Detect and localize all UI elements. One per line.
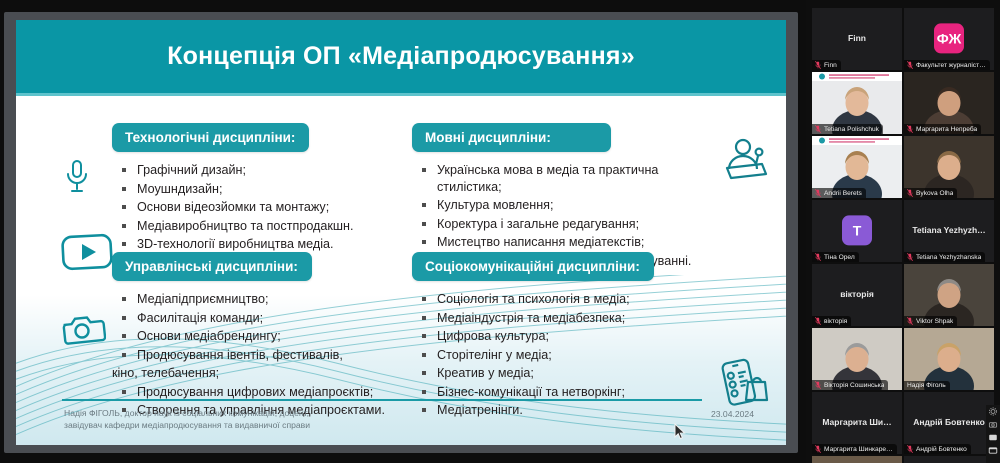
participant-tile[interactable]: FinnFinn <box>812 8 902 70</box>
participant-tile[interactable]: Viktor Shpak <box>904 264 994 326</box>
participant-namebar: Bykova Olha <box>904 188 957 198</box>
slide-title-bar: Концепція ОП «Медіапродюсування» <box>16 20 786 93</box>
title-underline <box>16 93 786 96</box>
participant-name-large: Маргарита Ши… <box>812 417 902 427</box>
participant-tile[interactable]: Tetiana Polishchuk <box>812 72 902 134</box>
list-item: Цифрова культура; <box>412 328 722 345</box>
muted-microphone-icon <box>815 253 821 261</box>
participant-tile[interactable]: Андрій БовтенкоАндрій Бовтенко <box>904 392 994 454</box>
participant-namebar: Viktor Shpak <box>904 316 957 326</box>
participant-name: Tetiana Polishchuk <box>824 126 879 133</box>
participant-name: Надія Фіголь <box>907 382 946 389</box>
participant-name: Finn <box>824 62 837 69</box>
participant-namebar: Андрій Бовтенко <box>904 444 971 454</box>
participant-name: Viktor Shpak <box>916 318 953 325</box>
column-sociokomunikatsiini: Соціокомунікаційні дисципліни: Соціологі… <box>412 252 722 421</box>
presentation-slide[interactable]: Концепція ОП «Медіапродюсування» <box>16 20 786 445</box>
participant-name: Вікторія Сошинська <box>824 382 884 389</box>
participant-name-large: Tetiana Yezhyzh… <box>904 225 994 235</box>
participant-name: Bykova Olha <box>916 190 953 197</box>
participant-namebar: вікторія <box>812 316 851 326</box>
muted-microphone-icon <box>815 61 821 69</box>
list-item-cont: кіно, телебачення; <box>112 365 412 382</box>
muted-microphone-icon <box>815 381 821 389</box>
list-item: Медіапідприємництво; <box>112 291 412 308</box>
participant-name: вікторія <box>824 318 847 325</box>
participant-tile[interactable]: Tetiana Yezhyzh…Tetiana Yezhyzhanska <box>904 200 994 262</box>
participant-tile[interactable]: Bykova Olha <box>904 136 994 198</box>
participant-tile[interactable]: Вступні випроб…Вступні випробуванн… <box>904 456 994 463</box>
muted-microphone-icon <box>907 125 913 133</box>
participant-name-large: Андрій Бовтенко <box>904 417 994 427</box>
camera-icon <box>60 310 106 351</box>
category-heading: Мовні дисципліни: <box>412 123 611 152</box>
muted-microphone-icon <box>815 445 821 453</box>
participant-name: Тіна Орел <box>824 254 855 261</box>
category-heading: Управлінські дисципліни: <box>112 252 312 281</box>
footer-divider <box>62 399 702 401</box>
category-heading: Технологічні дисципліни: <box>112 123 309 152</box>
participant-namebar: Тіна Орел <box>812 252 859 262</box>
list-item: Основи медіабрендингу; <box>112 328 412 345</box>
slide-title: Концепція ОП «Медіапродюсування» <box>167 42 635 71</box>
video-play-icon <box>60 232 114 277</box>
list-item: Мистецтво написання медіатекстів; <box>412 234 722 251</box>
participant-tile[interactable]: Anastasiia Polishchuk <box>812 456 902 463</box>
participant-tile[interactable]: Маргарита Ши…Маргарита Шинкаре… <box>812 392 902 454</box>
category-heading: Соціокомунікаційні дисципліни: <box>412 252 654 281</box>
participant-tile[interactable]: вікторіявікторія <box>812 264 902 326</box>
participant-name: Tetiana Yezhyzhanska <box>916 254 981 261</box>
participant-namebar: Вікторія Сошинська <box>812 380 888 390</box>
participant-grid: FinnFinnФЖФакультет журналіст…Tetiana Po… <box>812 8 994 463</box>
participant-namebar: Tetiana Polishchuk <box>812 124 883 134</box>
list-item: Культура мовлення; <box>412 197 722 214</box>
footer-date: 23.04.2024 <box>711 409 754 419</box>
course-list: Графічний дизайн; Моушндизайн; Основи ві… <box>112 162 412 253</box>
muted-microphone-icon <box>907 189 913 197</box>
participant-name: Факультет журналіст… <box>916 62 986 69</box>
mouse-cursor <box>674 423 686 440</box>
window-icon[interactable] <box>988 446 998 455</box>
list-item: Моушндизайн; <box>112 181 412 198</box>
participant-name: Маргарита Непреба <box>916 126 977 133</box>
list-item: Українська мова в медіа та практична сти… <box>412 162 722 195</box>
list-item: Продюсування цифрових медіапроєктів; <box>112 384 412 401</box>
participant-name: Andrii Berets <box>824 190 862 197</box>
muted-microphone-icon <box>815 189 821 197</box>
list-item: Графічний дизайн; <box>112 162 412 179</box>
muted-microphone-icon <box>907 445 913 453</box>
participant-video <box>812 456 902 463</box>
list-item: Фасилітація команди; <box>112 310 412 327</box>
list-item: Продюсування івентів, фестивалів, <box>112 347 412 364</box>
participant-namebar: Tetiana Yezhyzhanska <box>904 252 985 262</box>
participant-namebar: Факультет журналіст… <box>904 60 990 70</box>
muted-microphone-icon <box>815 125 821 133</box>
settings-gear-icon[interactable] <box>988 407 998 416</box>
list-item: Соціологія та психологія в медіа; <box>412 291 722 308</box>
participant-namebar: Надія Фіголь <box>904 381 950 390</box>
participant-tile[interactable]: ТТіна Орел <box>812 200 902 262</box>
participant-namebar: Andrii Berets <box>812 188 866 198</box>
muted-microphone-icon <box>815 317 821 325</box>
participant-name-large: вікторія <box>812 289 902 299</box>
participant-name: Маргарита Шинкаре… <box>824 446 893 453</box>
participant-gallery[interactable]: FinnFinnФЖФакультет журналіст…Tetiana Po… <box>806 0 1000 463</box>
right-edge-toolbar[interactable] <box>986 405 1000 463</box>
list-item: Основи відеозйомки та монтажу; <box>112 199 412 216</box>
muted-microphone-icon <box>907 61 913 69</box>
footer-author: Надія ФІГОЛЬ, доктор наук із соціальних … <box>64 407 544 431</box>
camera-icon[interactable] <box>988 420 998 429</box>
list-item: Креатив у медіа; <box>412 365 722 382</box>
participant-namebar: Маргарита Непреба <box>904 124 981 134</box>
microphone-icon <box>62 158 92 201</box>
column-technologichni: Технологічні дисципліни: Графічний дизай… <box>112 123 412 255</box>
participant-name-large: Finn <box>812 33 902 43</box>
participant-namebar: Finn <box>812 60 841 70</box>
participant-tile[interactable]: Andrii Berets <box>812 136 902 198</box>
screen-share-area[interactable]: Концепція ОП «Медіапродюсування» <box>0 0 806 463</box>
list-item: 3D-технології виробництва медіа. <box>112 236 412 253</box>
avatar: ФЖ <box>934 23 964 53</box>
muted-microphone-icon <box>907 253 913 261</box>
list-item: Бізнес-комунікації та нетворкінг; <box>412 384 722 401</box>
list-item: Медіаіндустрія та медіабезпека; <box>412 310 722 327</box>
muted-microphone-icon <box>907 317 913 325</box>
list-item: Сторітелінг у медіа; <box>412 347 722 364</box>
avatar: Т <box>842 215 872 245</box>
list-item: Медіавиробництво та постпродакшн. <box>112 218 412 235</box>
zoom-meeting-window: Концепція ОП «Медіапродюсування» <box>0 0 1000 463</box>
participant-tile[interactable]: Маргарита Непреба <box>904 72 994 134</box>
participant-name: Андрій Бовтенко <box>916 446 967 453</box>
participant-namebar: Маргарита Шинкаре… <box>812 444 897 454</box>
list-item: Коректура і загальне редагування; <box>412 216 722 233</box>
podium-speaker-icon <box>722 138 772 189</box>
column-movni: Мовні дисципліни: Українська мова в меді… <box>412 123 722 271</box>
footer-line-2: завідувач кафедри медіапродюсування та в… <box>64 419 544 431</box>
participant-tile[interactable]: Надія Фіголь <box>904 328 994 390</box>
participant-tile[interactable]: ФЖФакультет журналіст… <box>904 8 994 70</box>
column-upravlinski: Управлінські дисципліни: Медіапідприємни… <box>112 252 412 421</box>
screen-icon[interactable] <box>988 433 998 442</box>
footer-line-1: Надія ФІГОЛЬ, доктор наук із соціальних … <box>64 407 544 419</box>
phone-shopping-icon <box>718 358 770 413</box>
participant-tile[interactable]: Вікторія Сошинська <box>812 328 902 390</box>
